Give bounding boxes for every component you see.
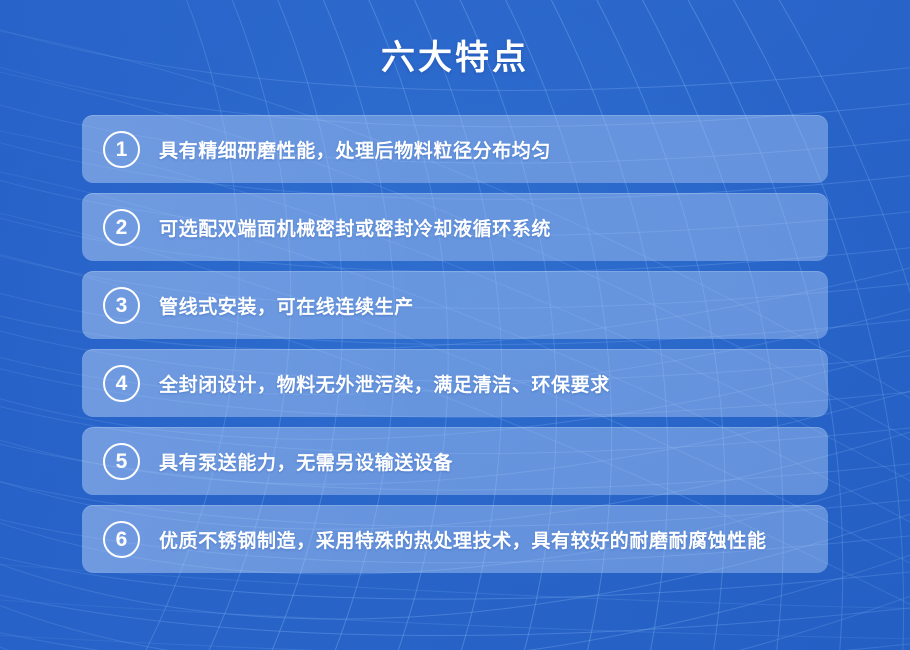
feature-text-4: 全封闭设计，物料无外泄污染，满足清洁、环保要求 [159,370,610,397]
page-title: 六大特点 [0,36,910,80]
feature-text-1: 具有精细研磨性能，处理后物料粒径分布均匀 [159,136,551,163]
feature-item-3[interactable]: 3 管线式安装，可在线连续生产 [82,271,828,339]
feature-poster: 六大特点 1 具有精细研磨性能，处理后物料粒径分布均匀 2 可选配双端面机械密封… [0,0,910,650]
feature-number-badge-2: 2 [103,209,140,246]
feature-number-badge-3: 3 [103,287,140,324]
feature-number-badge-4: 4 [103,365,140,402]
feature-item-6[interactable]: 6 优质不锈钢制造，采用特殊的热处理技术，具有较好的耐磨耐腐蚀性能 [82,505,828,573]
feature-item-5[interactable]: 5 具有泵送能力，无需另设输送设备 [82,427,828,495]
feature-item-1[interactable]: 1 具有精细研磨性能，处理后物料粒径分布均匀 [82,115,828,183]
feature-text-5: 具有泵送能力，无需另设输送设备 [159,448,453,475]
feature-text-2: 可选配双端面机械密封或密封冷却液循环系统 [159,214,551,241]
feature-list: 1 具有精细研磨性能，处理后物料粒径分布均匀 2 可选配双端面机械密封或密封冷却… [82,115,828,583]
feature-text-3: 管线式安装，可在线连续生产 [159,292,414,319]
feature-number-badge-1: 1 [103,131,140,168]
feature-number-badge-6: 6 [103,521,140,558]
feature-item-4[interactable]: 4 全封闭设计，物料无外泄污染，满足清洁、环保要求 [82,349,828,417]
feature-item-2[interactable]: 2 可选配双端面机械密封或密封冷却液循环系统 [82,193,828,261]
feature-number-badge-5: 5 [103,443,140,480]
feature-text-6: 优质不锈钢制造，采用特殊的热处理技术，具有较好的耐磨耐腐蚀性能 [159,526,767,553]
